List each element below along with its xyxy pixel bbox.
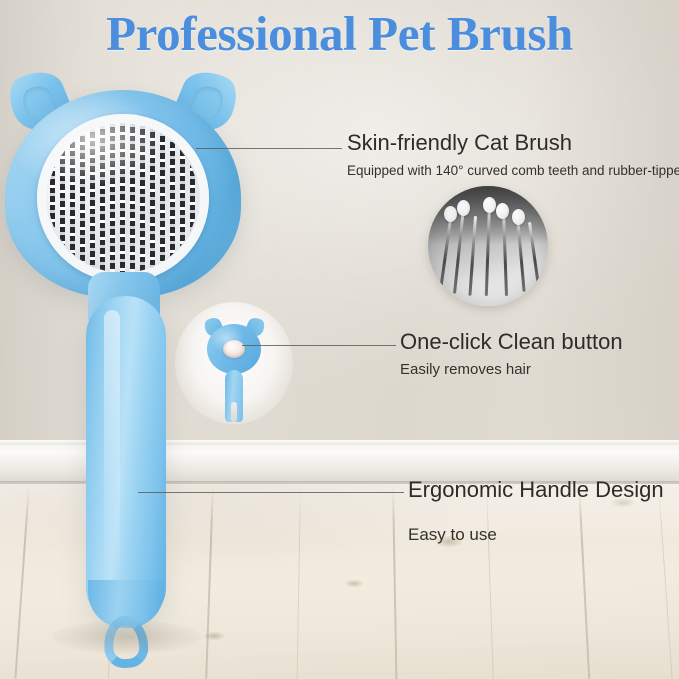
pin-row: [60, 147, 65, 251]
pin-row: [70, 139, 75, 259]
rubber-tip: [512, 209, 525, 225]
callout-skin-friendly: Skin-friendly Cat Brush Equipped with 14…: [347, 130, 679, 180]
callout-ergonomic-handle: Ergonomic Handle Design Easy to use: [408, 477, 664, 547]
pin-row: [140, 126, 145, 271]
pin-row: [110, 124, 115, 272]
pin-row: [180, 147, 185, 251]
brush-handle: [86, 296, 166, 622]
pin-row: [50, 159, 55, 239]
clean-button-inset: [175, 302, 293, 424]
leader-line-skin-friendly: [196, 148, 342, 149]
pin-row: [160, 133, 165, 265]
pin-row: [120, 123, 125, 273]
brush-head: [5, 68, 241, 298]
callout-heading: Skin-friendly Cat Brush: [347, 130, 679, 156]
brush-pin-plate: [37, 114, 209, 282]
callout-subtext: Equipped with 140° curved comb teeth and…: [347, 162, 679, 180]
pin-row: [80, 133, 85, 265]
pin-row: [190, 159, 195, 239]
product-floor-shadow: [52, 620, 202, 654]
pin-row: [90, 129, 95, 269]
rubber-tip: [496, 203, 509, 219]
callout-heading: One-click Clean button: [400, 329, 623, 355]
leader-line-ergonomic-handle: [138, 492, 404, 493]
callout-heading: Ergonomic Handle Design: [408, 477, 664, 503]
pin-row: [130, 124, 135, 272]
leader-line-clean-button: [242, 345, 396, 346]
pin-row: [170, 139, 175, 259]
comb-teeth-closeup-inset: [428, 186, 548, 306]
rubber-tip: [444, 206, 457, 222]
callout-one-click-clean: One-click Clean button Easily removes ha…: [400, 329, 623, 380]
product-infographic: Professional Pet Brush: [0, 0, 679, 679]
rubber-tip: [457, 200, 470, 216]
rubber-tip: [483, 197, 496, 213]
callout-subtext: Easily removes hair: [400, 360, 623, 380]
handle-highlight: [104, 310, 120, 600]
mini-handle-slot: [231, 402, 237, 422]
pin-row: [150, 129, 155, 269]
page-title: Professional Pet Brush: [0, 5, 679, 62]
pin-row: [100, 126, 105, 271]
one-click-clean-button-icon: [223, 340, 245, 358]
callout-subtext: Easy to use: [408, 524, 664, 547]
brush-pin-field: [48, 123, 198, 273]
